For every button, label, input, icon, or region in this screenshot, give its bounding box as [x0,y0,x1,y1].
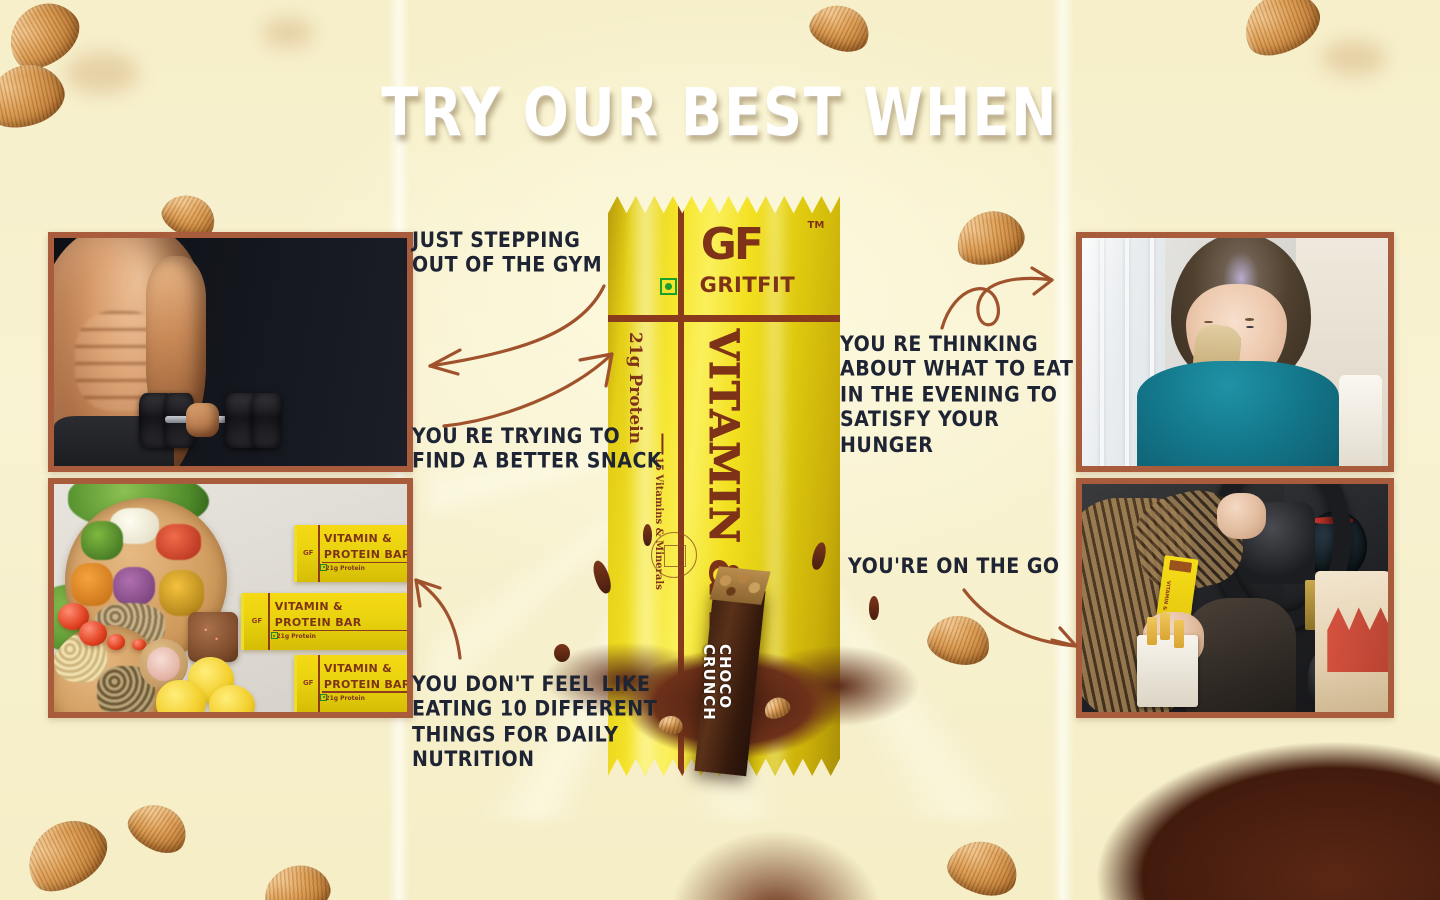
brand-logo-icon: GF [301,535,316,570]
photo-woman [1076,232,1394,472]
lemon [209,685,255,718]
quality-seal-icon [651,532,697,578]
almond-icon [950,204,1030,273]
arrow-to-woman [940,262,1070,342]
almond-icon [121,795,194,861]
fries-box [1137,635,1198,708]
callout-onthego: YOU'RE ON THE GO [848,554,1060,579]
almond-shadow [262,18,314,48]
callout-evening: YOU RE THINKING ABOUT WHAT TO EAT IN THE… [840,332,1073,457]
mini-bar-line2: PROTEIN BAR [324,678,411,691]
tomato [107,634,125,650]
page-title-text: TRY OUR BEST WHEN [382,74,1059,151]
almond-icon [14,806,118,900]
mini-bar-pack: GF VITAMIN & PROTEIN BAR 21g Protein [294,525,413,582]
mini-bar-line2: PROTEIN BAR [324,548,411,561]
mini-bar-line1: VITAMIN & [275,600,343,613]
almond-icon [1233,0,1329,67]
chair [1339,375,1382,466]
veg-mark-icon [660,278,677,295]
mini-bar-line1: VITAMIN & [324,662,392,675]
teal-top [1137,361,1339,472]
photo-food: GF VITAMIN & PROTEIN BAR 21g Protein GF … [48,478,413,718]
mini-bar-line2: PROTEIN BAR [275,616,362,629]
arrow-to-food [412,570,472,670]
leg [1186,598,1296,718]
hand-on-wheel [1217,493,1266,539]
pepper-bowl [188,612,237,662]
callout-nutrition: YOU DON'T FEEL LIKE EATING 10 DIFFERENT … [412,672,657,772]
callout-gym: JUST STEPPING OUT OF THE GYM [412,228,602,278]
tomato [79,621,107,646]
almond-icon [805,0,876,58]
photo-driving: VITAMIN & [1076,478,1394,718]
paper-bag [1315,571,1394,712]
callout-snack: YOU RE TRYING TO FIND A BETTER SNACK [412,424,662,474]
page-title: TRY OUR BEST WHEN [0,74,1440,151]
arrow-to-product-left [430,350,620,430]
almond-icon [260,860,335,900]
arrow-to-gym [412,288,612,378]
almond-shadow [1322,40,1386,76]
car-bar-label: VITAMIN & [1161,580,1171,610]
brand-initials: GF [701,217,808,272]
brand-logo-icon: GF [248,604,265,639]
mini-bar-protein: 21g Protein [276,633,315,640]
mini-bar-pack: GF VITAMIN & PROTEIN BAR 21g Protein [241,593,413,650]
trademark-symbol: TM [808,220,825,231]
dumbbell-icon [139,393,287,448]
mini-bar-line1: VITAMIN & [324,532,392,545]
photo-gym [48,232,413,472]
almond-icon [942,833,1024,900]
flavour-label: CHOCOCRUNCH [701,644,733,721]
mini-bar-protein: 21g Protein [325,565,364,572]
almond-icon [924,610,995,670]
brand-logo-icon: GF [301,665,316,700]
mini-bar-pack: GF VITAMIN & PROTEIN BAR 21g Protein [294,655,413,712]
brand-name: GRITFIT [700,273,796,297]
mini-bar-protein: 21g Protein [325,695,364,702]
lemon [156,680,205,718]
poster-canvas: TRY OUR BEST WHEN [0,0,1440,900]
